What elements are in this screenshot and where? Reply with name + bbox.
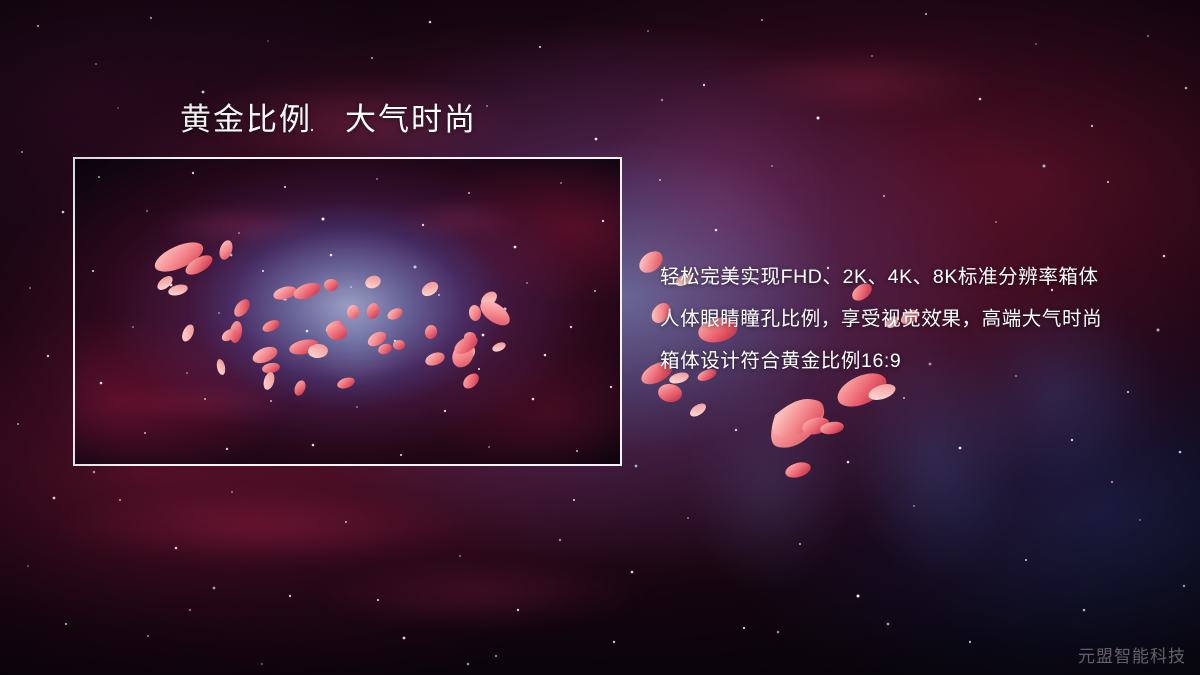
company-watermark: 元盟智能科技 bbox=[1078, 642, 1186, 667]
body-line-3: 箱体设计符合黄金比例16:9 bbox=[660, 340, 1160, 382]
petal-cluster-inside-frame bbox=[75, 159, 622, 466]
body-copy: 轻松完美实现FHD、2K、4K、8K标准分辨率箱体 人体眼睛瞳孔比例，享受视觉效… bbox=[660, 256, 1160, 382]
slide-canvas: 黄金比例 大气时尚 bbox=[0, 0, 1200, 675]
framed-image[interactable] bbox=[73, 157, 622, 466]
slide-headline: 黄金比例 大气时尚 bbox=[180, 101, 477, 138]
body-line-1: 轻松完美实现FHD、2K、4K、8K标准分辨率箱体 bbox=[660, 256, 1160, 298]
body-line-2: 人体眼睛瞳孔比例，享受视觉效果，高端大气时尚 bbox=[660, 298, 1160, 340]
